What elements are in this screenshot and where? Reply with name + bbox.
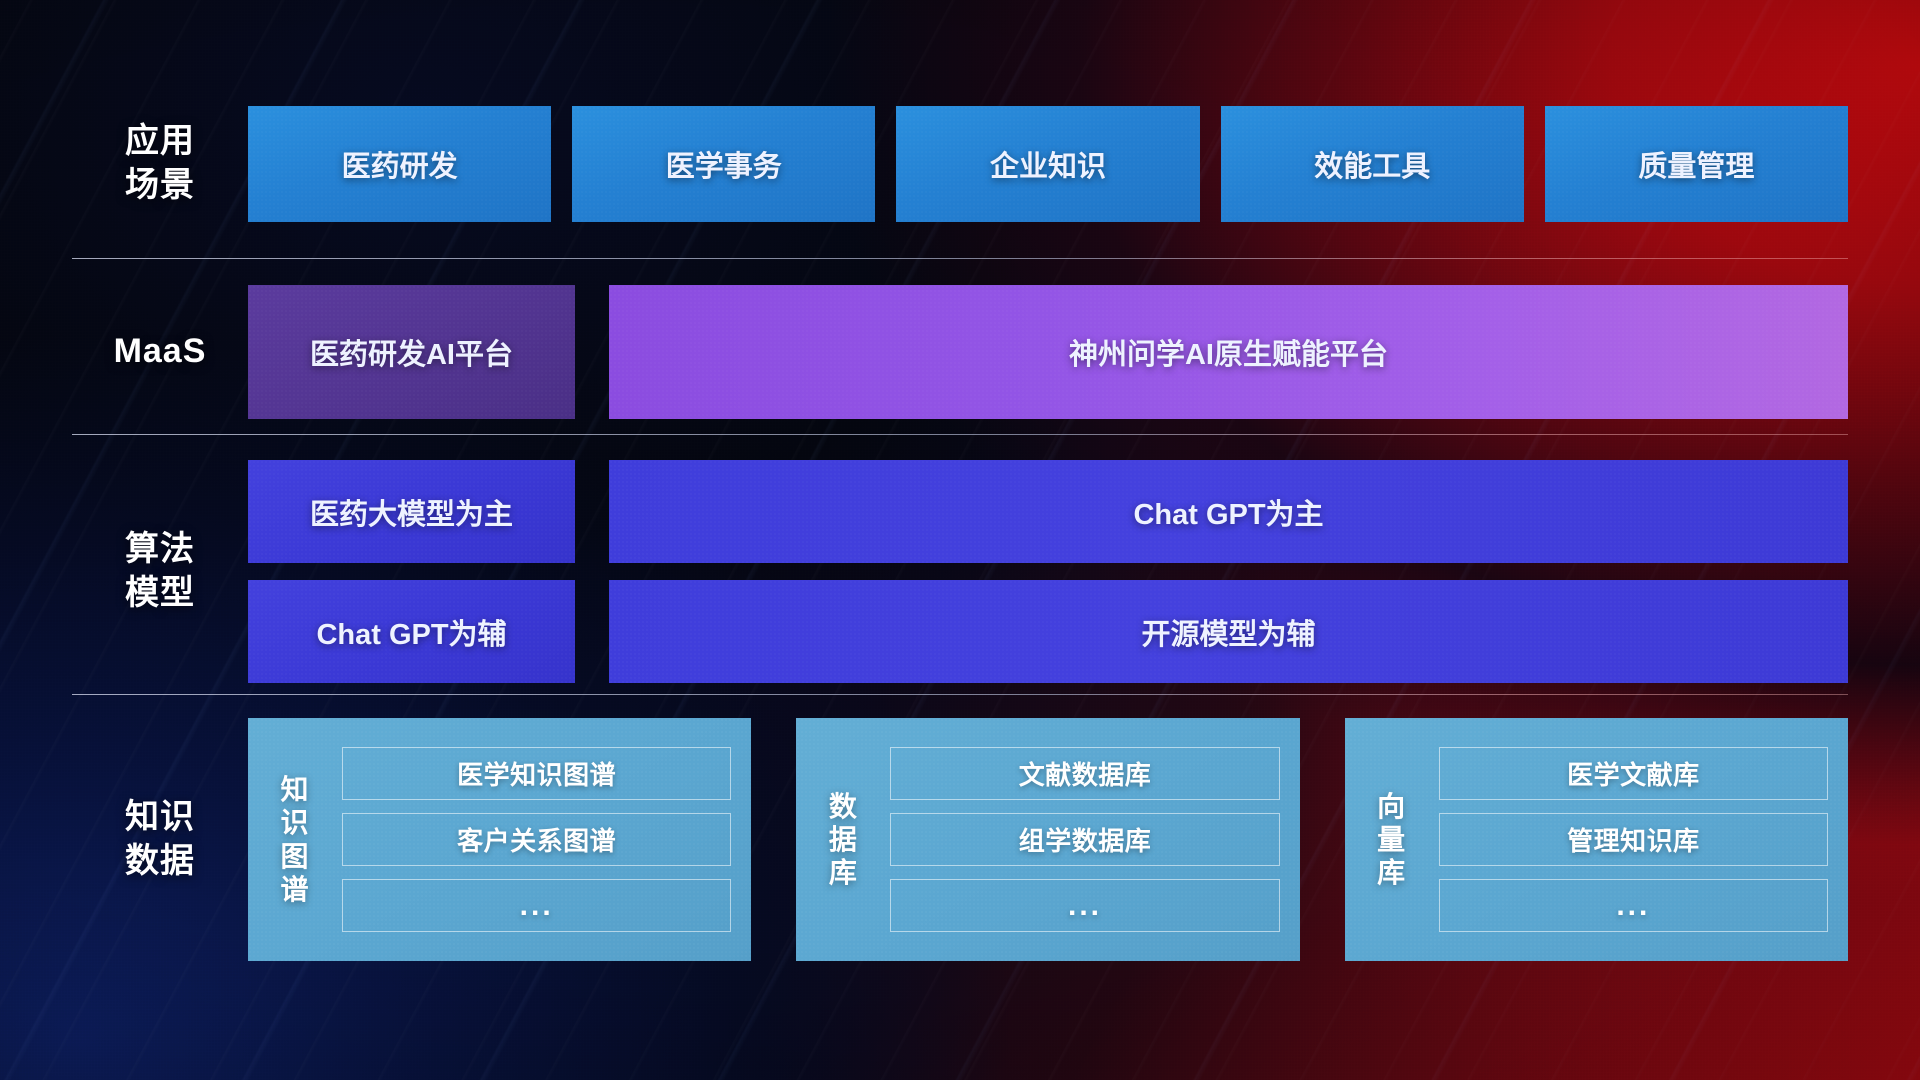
row-body-applications: 医药研发 医学事务 企业知识 效能工具 质量管理 (248, 106, 1848, 222)
maas-card-strip: 医药研发AI平台 神州问学AI原生赋能平台 (248, 285, 1848, 419)
knowledge-item[interactable]: 客户关系图谱 (342, 813, 731, 866)
algo-card-label: Chat GPT为辅 (316, 611, 506, 653)
knowledge-item-more[interactable]: ... (890, 879, 1279, 932)
divider-applications-maas (72, 258, 1848, 259)
algorithm-line-primary: 医药大模型为主 Chat GPT为主 (248, 460, 1848, 563)
knowledge-item[interactable]: 医学知识图谱 (342, 747, 731, 800)
knowledge-panel-items: 医学知识图谱 客户关系图谱 ... (328, 735, 731, 944)
divider-maas-algorithm (72, 434, 1848, 435)
algo-card-label: Chat GPT为主 (1133, 491, 1323, 533)
app-card-label: 医药研发 (342, 143, 458, 185)
row-body-knowledge-data: 知识图谱 医学知识图谱 客户关系图谱 ... 数据库 文献数据库 组学数据库 .… (248, 718, 1848, 961)
knowledge-panel-title: 向量库 (1359, 735, 1425, 944)
knowledge-item-more[interactable]: ... (342, 879, 731, 932)
app-card-label: 效能工具 (1314, 143, 1430, 185)
slide-canvas: 应用 场景 医药研发 医学事务 企业知识 效能工具 (0, 0, 1920, 1080)
app-card-label: 质量管理 (1638, 143, 1754, 185)
divider-algorithm-knowledge (72, 694, 1848, 695)
app-card-efficiency-tools[interactable]: 效能工具 (1221, 106, 1524, 222)
knowledge-item[interactable]: 医学文献库 (1439, 747, 1828, 800)
row-maas: MaaS 医药研发AI平台 神州问学AI原生赋能平台 (72, 285, 1848, 419)
application-card-strip: 医药研发 医学事务 企业知识 效能工具 质量管理 (248, 106, 1848, 222)
app-card-medical-affairs[interactable]: 医学事务 (572, 106, 875, 222)
algo-card-chatgpt-secondary[interactable]: Chat GPT为辅 (248, 580, 575, 683)
app-card-label: 企业知识 (990, 143, 1106, 185)
algo-card-opensource-secondary[interactable]: 开源模型为辅 (609, 580, 1848, 683)
knowledge-item-more[interactable]: ... (1439, 879, 1828, 932)
knowledge-item[interactable]: 管理知识库 (1439, 813, 1828, 866)
algorithm-line-secondary: Chat GPT为辅 开源模型为辅 (248, 580, 1848, 683)
knowledge-panel-items: 医学文献库 管理知识库 ... (1425, 735, 1828, 944)
app-card-medicine-rd[interactable]: 医药研发 (248, 106, 551, 222)
knowledge-panel-title: 知识图谱 (262, 735, 328, 944)
app-card-enterprise-knowledge[interactable]: 企业知识 (896, 106, 1199, 222)
knowledge-panel-vector-store[interactable]: 向量库 医学文献库 管理知识库 ... (1345, 718, 1848, 961)
row-label-algorithm-models: 算法 模型 (72, 528, 248, 615)
maas-card-shenzhou-wenxue-platform[interactable]: 神州问学AI原生赋能平台 (609, 285, 1848, 419)
row-knowledge-data: 知识 数据 知识图谱 医学知识图谱 客户关系图谱 ... 数据库 (72, 718, 1848, 961)
row-label-maas: MaaS (72, 330, 248, 374)
knowledge-panel-title: 数据库 (810, 735, 876, 944)
algo-card-label: 医药大模型为主 (310, 491, 513, 533)
algo-card-chatgpt-primary[interactable]: Chat GPT为主 (609, 460, 1848, 563)
row-label-applications: 应用 场景 (72, 120, 248, 207)
algo-card-pharma-llm-primary[interactable]: 医药大模型为主 (248, 460, 575, 563)
row-algorithm-models: 算法 模型 医药大模型为主 Chat GPT为主 Chat GPT为辅 开源模型… (72, 460, 1848, 683)
knowledge-item[interactable]: 组学数据库 (890, 813, 1279, 866)
app-card-label: 医学事务 (666, 143, 782, 185)
knowledge-panel-strip: 知识图谱 医学知识图谱 客户关系图谱 ... 数据库 文献数据库 组学数据库 .… (248, 718, 1848, 961)
knowledge-panel-knowledge-graph[interactable]: 知识图谱 医学知识图谱 客户关系图谱 ... (248, 718, 751, 961)
maas-card-pharma-ai-platform[interactable]: 医药研发AI平台 (248, 285, 575, 419)
architecture-diagram: 应用 场景 医药研发 医学事务 企业知识 效能工具 (0, 0, 1920, 1080)
row-body-maas: 医药研发AI平台 神州问学AI原生赋能平台 (248, 285, 1848, 419)
algo-card-label: 开源模型为辅 (1141, 611, 1315, 653)
knowledge-panel-items: 文献数据库 组学数据库 ... (876, 735, 1279, 944)
row-body-algorithm-models: 医药大模型为主 Chat GPT为主 Chat GPT为辅 开源模型为辅 (248, 460, 1848, 683)
maas-card-label: 神州问学AI原生赋能平台 (1069, 331, 1388, 373)
row-applications: 应用 场景 医药研发 医学事务 企业知识 效能工具 (72, 106, 1848, 222)
knowledge-panel-database[interactable]: 数据库 文献数据库 组学数据库 ... (796, 718, 1299, 961)
row-label-knowledge-data: 知识 数据 (72, 796, 248, 883)
knowledge-item[interactable]: 文献数据库 (890, 747, 1279, 800)
app-card-quality-management[interactable]: 质量管理 (1545, 106, 1848, 222)
maas-card-label: 医药研发AI平台 (310, 331, 513, 373)
